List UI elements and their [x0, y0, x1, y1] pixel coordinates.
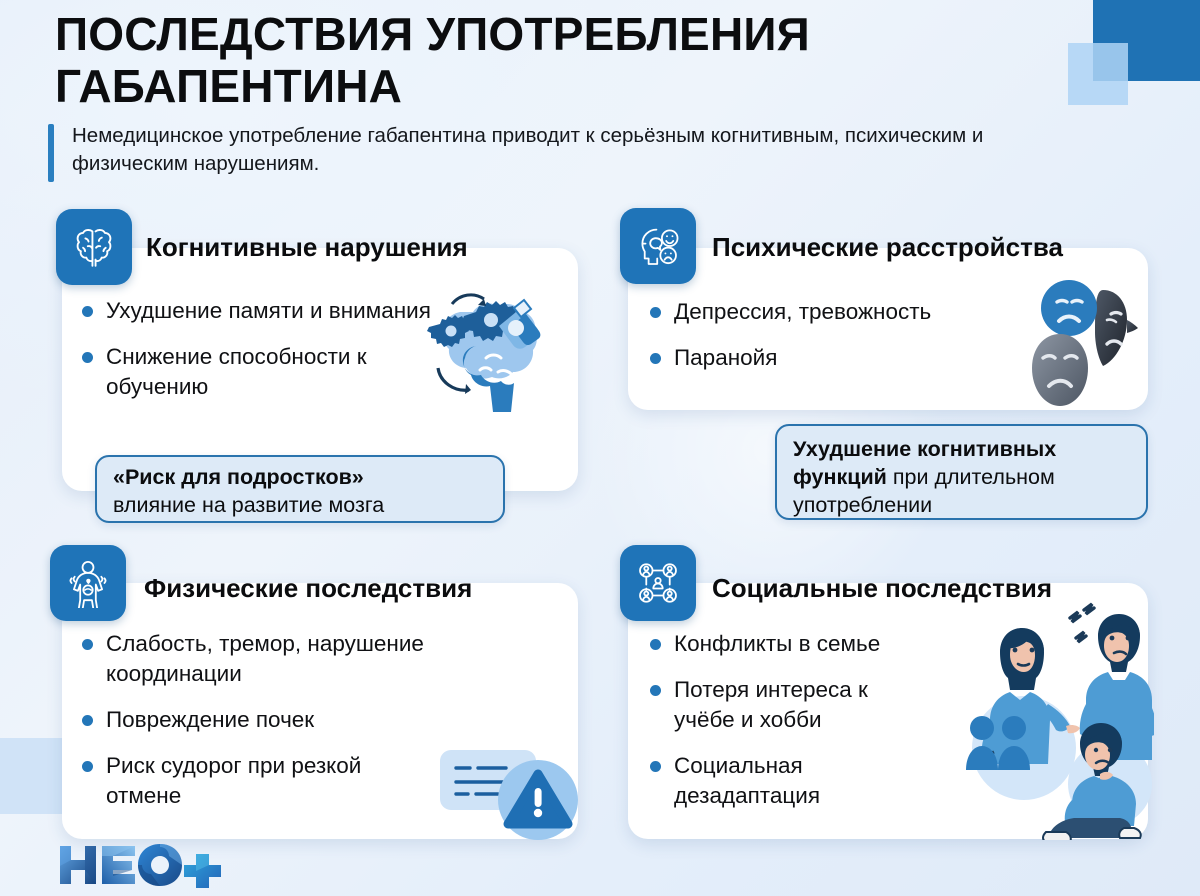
list-item: Риск судорог при резкой отмене	[82, 751, 482, 811]
bullet-dot	[82, 639, 93, 650]
bullets-social: Конфликты в семье Потеря интереса к учёб…	[650, 629, 980, 827]
bullet-text: Социальная дезадаптация	[674, 751, 884, 811]
page-subtitle: Немедицинское употребление габапентина п…	[72, 122, 1058, 178]
list-item: Слабость, тремор, нарушение координации	[82, 629, 482, 689]
bullet-text: Снижение способности к обучению	[106, 342, 432, 402]
bullets-physical: Слабость, тремор, нарушение координации …	[82, 629, 482, 827]
list-item: Повреждение почек	[82, 705, 482, 735]
highlight-long-term-text: Ухудшение когнитивных функций при длител…	[793, 435, 1130, 519]
bullet-dot	[650, 685, 661, 696]
bullet-text: Конфликты в семье	[674, 629, 880, 659]
bullet-text: Депрессия, тревожность	[674, 297, 931, 327]
bullet-dot	[82, 715, 93, 726]
head-emotions-icon	[633, 221, 683, 271]
bullet-dot	[650, 761, 661, 772]
card-title-social: Социальные последствия	[712, 573, 1052, 604]
subtitle-block: Немедицинское употребление габапентина п…	[48, 122, 1058, 182]
bullet-dot	[650, 639, 661, 650]
list-item: Социальная дезадаптация	[650, 751, 980, 811]
bullet-text: Потеря интереса к учёбе и хобби	[674, 675, 919, 735]
bullet-dot	[82, 352, 93, 363]
subtitle-accent-bar	[48, 124, 54, 182]
badge-psychiatric	[620, 208, 696, 284]
badge-cognitive	[56, 209, 132, 285]
card-title-physical: Физические последствия	[144, 573, 472, 604]
list-item: Депрессия, тревожность	[650, 297, 1030, 327]
bullet-text: Повреждение почек	[106, 705, 314, 735]
neo-plus-logo	[58, 842, 228, 888]
highlight-rest: влияние на развитие мозга	[113, 493, 384, 517]
infographic-canvas: ПОСЛЕДСТВИЯ УПОТРЕБЛЕНИЯ ГАБАПЕНТИНА Нем…	[0, 0, 1200, 896]
bullet-text: Риск судорог при резкой отмене	[106, 751, 366, 811]
highlight-teen-risk-text: «Риск для подростков» влияние на развити…	[113, 463, 487, 519]
list-item: Потеря интереса к учёбе и хобби	[650, 675, 980, 735]
bullets-psychiatric: Депрессия, тревожность Паранойя	[650, 297, 1030, 389]
bullet-text: Ухудшение памяти и внимания	[106, 296, 431, 326]
brand-logo[interactable]	[58, 842, 228, 888]
highlight-teen-risk: «Риск для подростков» влияние на развити…	[95, 455, 505, 523]
highlight-long-term: Ухудшение когнитивных функций при длител…	[775, 424, 1148, 520]
bullets-cognitive: Ухудшение памяти и внимания Снижение спо…	[82, 296, 432, 418]
decor-square-light	[1068, 43, 1128, 105]
bullet-dot	[650, 307, 661, 318]
body-organs-icon	[63, 558, 113, 608]
highlight-bold: «Риск для подростков»	[113, 465, 364, 489]
badge-social	[620, 545, 696, 621]
bullet-dot	[82, 306, 93, 317]
people-network-icon	[633, 558, 683, 608]
brain-icon	[69, 222, 119, 272]
bullet-dot	[650, 353, 661, 364]
bullet-text: Паранойя	[674, 343, 777, 373]
bullet-text: Слабость, тремор, нарушение координации	[106, 629, 482, 689]
list-item: Ухудшение памяти и внимания	[82, 296, 432, 326]
card-title-psychiatric: Психические расстройства	[712, 232, 1063, 263]
list-item: Конфликты в семье	[650, 629, 980, 659]
list-item: Паранойя	[650, 343, 1030, 373]
card-title-cognitive: Когнитивные нарушения	[146, 232, 468, 263]
page-title: ПОСЛЕДСТВИЯ УПОТРЕБЛЕНИЯ ГАБАПЕНТИНА	[55, 8, 1075, 112]
list-item: Снижение способности к обучению	[82, 342, 432, 402]
badge-physical	[50, 545, 126, 621]
bullet-dot	[82, 761, 93, 772]
